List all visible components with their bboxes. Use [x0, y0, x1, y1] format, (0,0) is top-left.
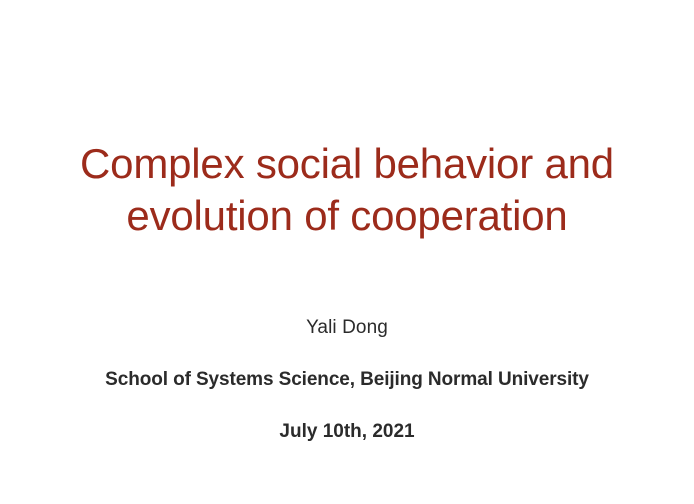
presenter-name: Yali Dong: [0, 316, 694, 340]
presentation-title-slide: Complex social behavior and evolution of…: [0, 0, 694, 504]
presentation-date: July 10th, 2021: [0, 420, 694, 444]
slide-title-line-1: Complex social behavior and: [0, 138, 694, 190]
slide-title-line-2: evolution of cooperation: [0, 190, 694, 242]
slide-title: Complex social behavior and evolution of…: [0, 138, 694, 242]
slide-subtitle: Yali Dong School of Systems Science, Bei…: [0, 316, 694, 444]
presenter-affiliation: School of Systems Science, Beijing Norma…: [0, 368, 694, 392]
